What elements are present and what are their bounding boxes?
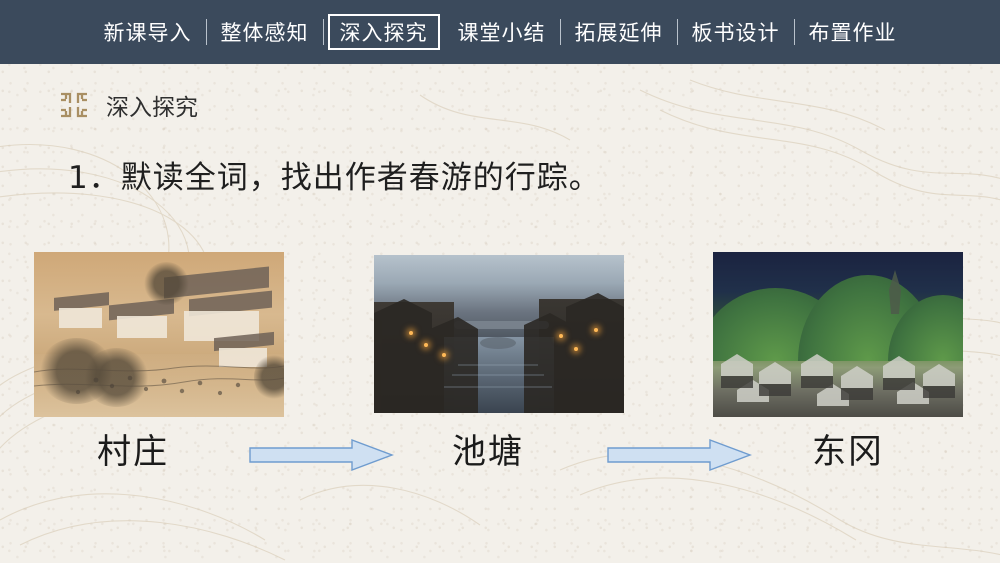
slide: 新课导入 整体感知 深入探究 课堂小结 拓展延伸 板书设计 布置作业	[0, 0, 1000, 563]
nav-item-1[interactable]: 新课导入	[90, 14, 206, 50]
caption-east-hill: 东冈	[812, 424, 884, 473]
image-pond-town	[374, 255, 624, 413]
nav-items: 新课导入 整体感知 深入探究 课堂小结 拓展延伸 板书设计 布置作业	[90, 14, 911, 50]
caption-village: 村庄	[97, 424, 169, 473]
arrow-right-2-icon	[606, 438, 752, 472]
top-navigation-bar: 新课导入 整体感知 深入探究 课堂小结 拓展延伸 板书设计 布置作业	[0, 0, 1000, 64]
nav-item-7[interactable]: 布置作业	[795, 14, 911, 50]
image-east-hill	[713, 252, 963, 417]
nav-separator	[323, 19, 324, 45]
nav-item-3-active[interactable]: 深入探究	[328, 14, 440, 50]
nav-item-6[interactable]: 板书设计	[678, 14, 794, 50]
caption-pond: 池塘	[452, 424, 524, 473]
nav-item-2[interactable]: 整体感知	[207, 14, 323, 50]
seal-ornament-icon	[58, 90, 90, 120]
section-title: 深入探究	[106, 88, 198, 122]
nav-item-4[interactable]: 课堂小结	[444, 14, 560, 50]
question-text: 1．默读全词，找出作者春游的行踪。	[68, 152, 601, 197]
arrow-right-1-icon	[248, 438, 394, 472]
nav-item-5[interactable]: 拓展延伸	[561, 14, 677, 50]
figure-row	[0, 250, 1000, 420]
image-village-painting	[34, 252, 284, 417]
section-heading: 深入探究	[58, 88, 198, 122]
